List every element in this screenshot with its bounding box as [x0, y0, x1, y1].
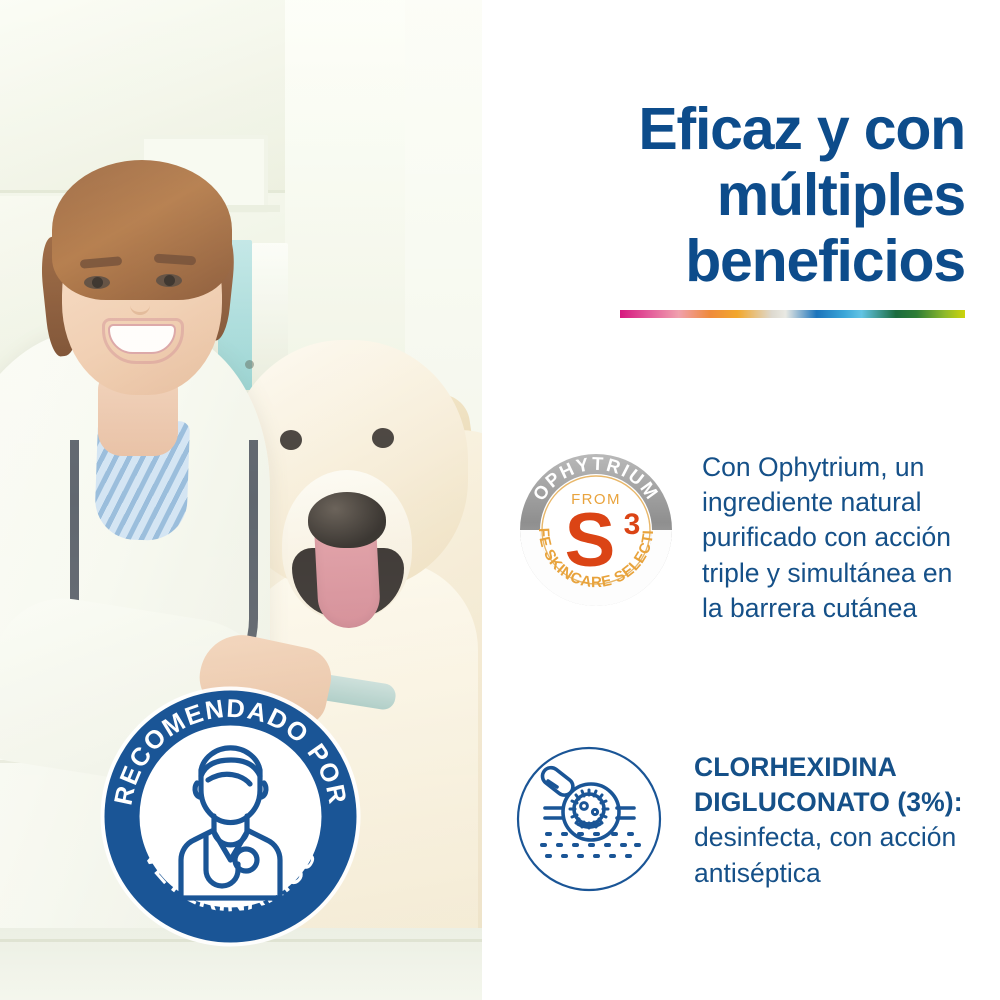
s3-badge-superscript: 3 [624, 508, 641, 541]
page-title: Eficaz y con múltiples beneficios [517, 96, 965, 294]
dog-nose [308, 492, 386, 548]
clorhexidina-icon-circle [516, 746, 662, 892]
clorhexidina-strong-text: CLORHEXIDINA DIGLUCONATO (3%): [694, 752, 963, 817]
s3-badge-letter: S [565, 498, 616, 583]
vet-hair [52, 160, 232, 300]
content-column: Eficaz y con múltiples beneficios [482, 0, 1000, 1000]
clorhexidina-rest-text: desinfecta, con acción antiséptica [694, 822, 956, 887]
ophytrium-description: Con Ophytrium, un ingrediente natural pu… [702, 450, 972, 626]
hero-photo: RECOMENDADO POR VETERINARIOS [0, 0, 482, 1000]
rainbow-divider [620, 310, 965, 318]
headline-line-2: múltiples [517, 162, 965, 228]
benefit-row-clorhexidina: CLORHEXIDINA DIGLUCONATO (3%): desinfect… [516, 742, 964, 892]
vet-eye-left [84, 276, 110, 289]
dog-eye-left [280, 430, 302, 450]
headline-line-3: beneficios [517, 228, 965, 294]
vet-eye-right [156, 274, 182, 287]
clorhexidina-description: CLORHEXIDINA DIGLUCONATO (3%): desinfect… [694, 750, 964, 891]
ophytrium-s3-badge: OPHYTRIUM SAFE SKINCARE SELECTION FROM S… [516, 450, 676, 610]
dog-eye-right [372, 428, 394, 448]
promo-card: RECOMENDADO POR VETERINARIOS [0, 0, 1000, 1000]
benefit-row-ophytrium: OPHYTRIUM SAFE SKINCARE SELECTION FROM S… [516, 450, 972, 626]
vet-recommended-badge: RECOMENDADO POR VETERINARIOS [98, 684, 363, 949]
binder-dot [245, 360, 254, 369]
vet-nose [130, 296, 150, 315]
headline-line-1: Eficaz y con [517, 96, 965, 162]
